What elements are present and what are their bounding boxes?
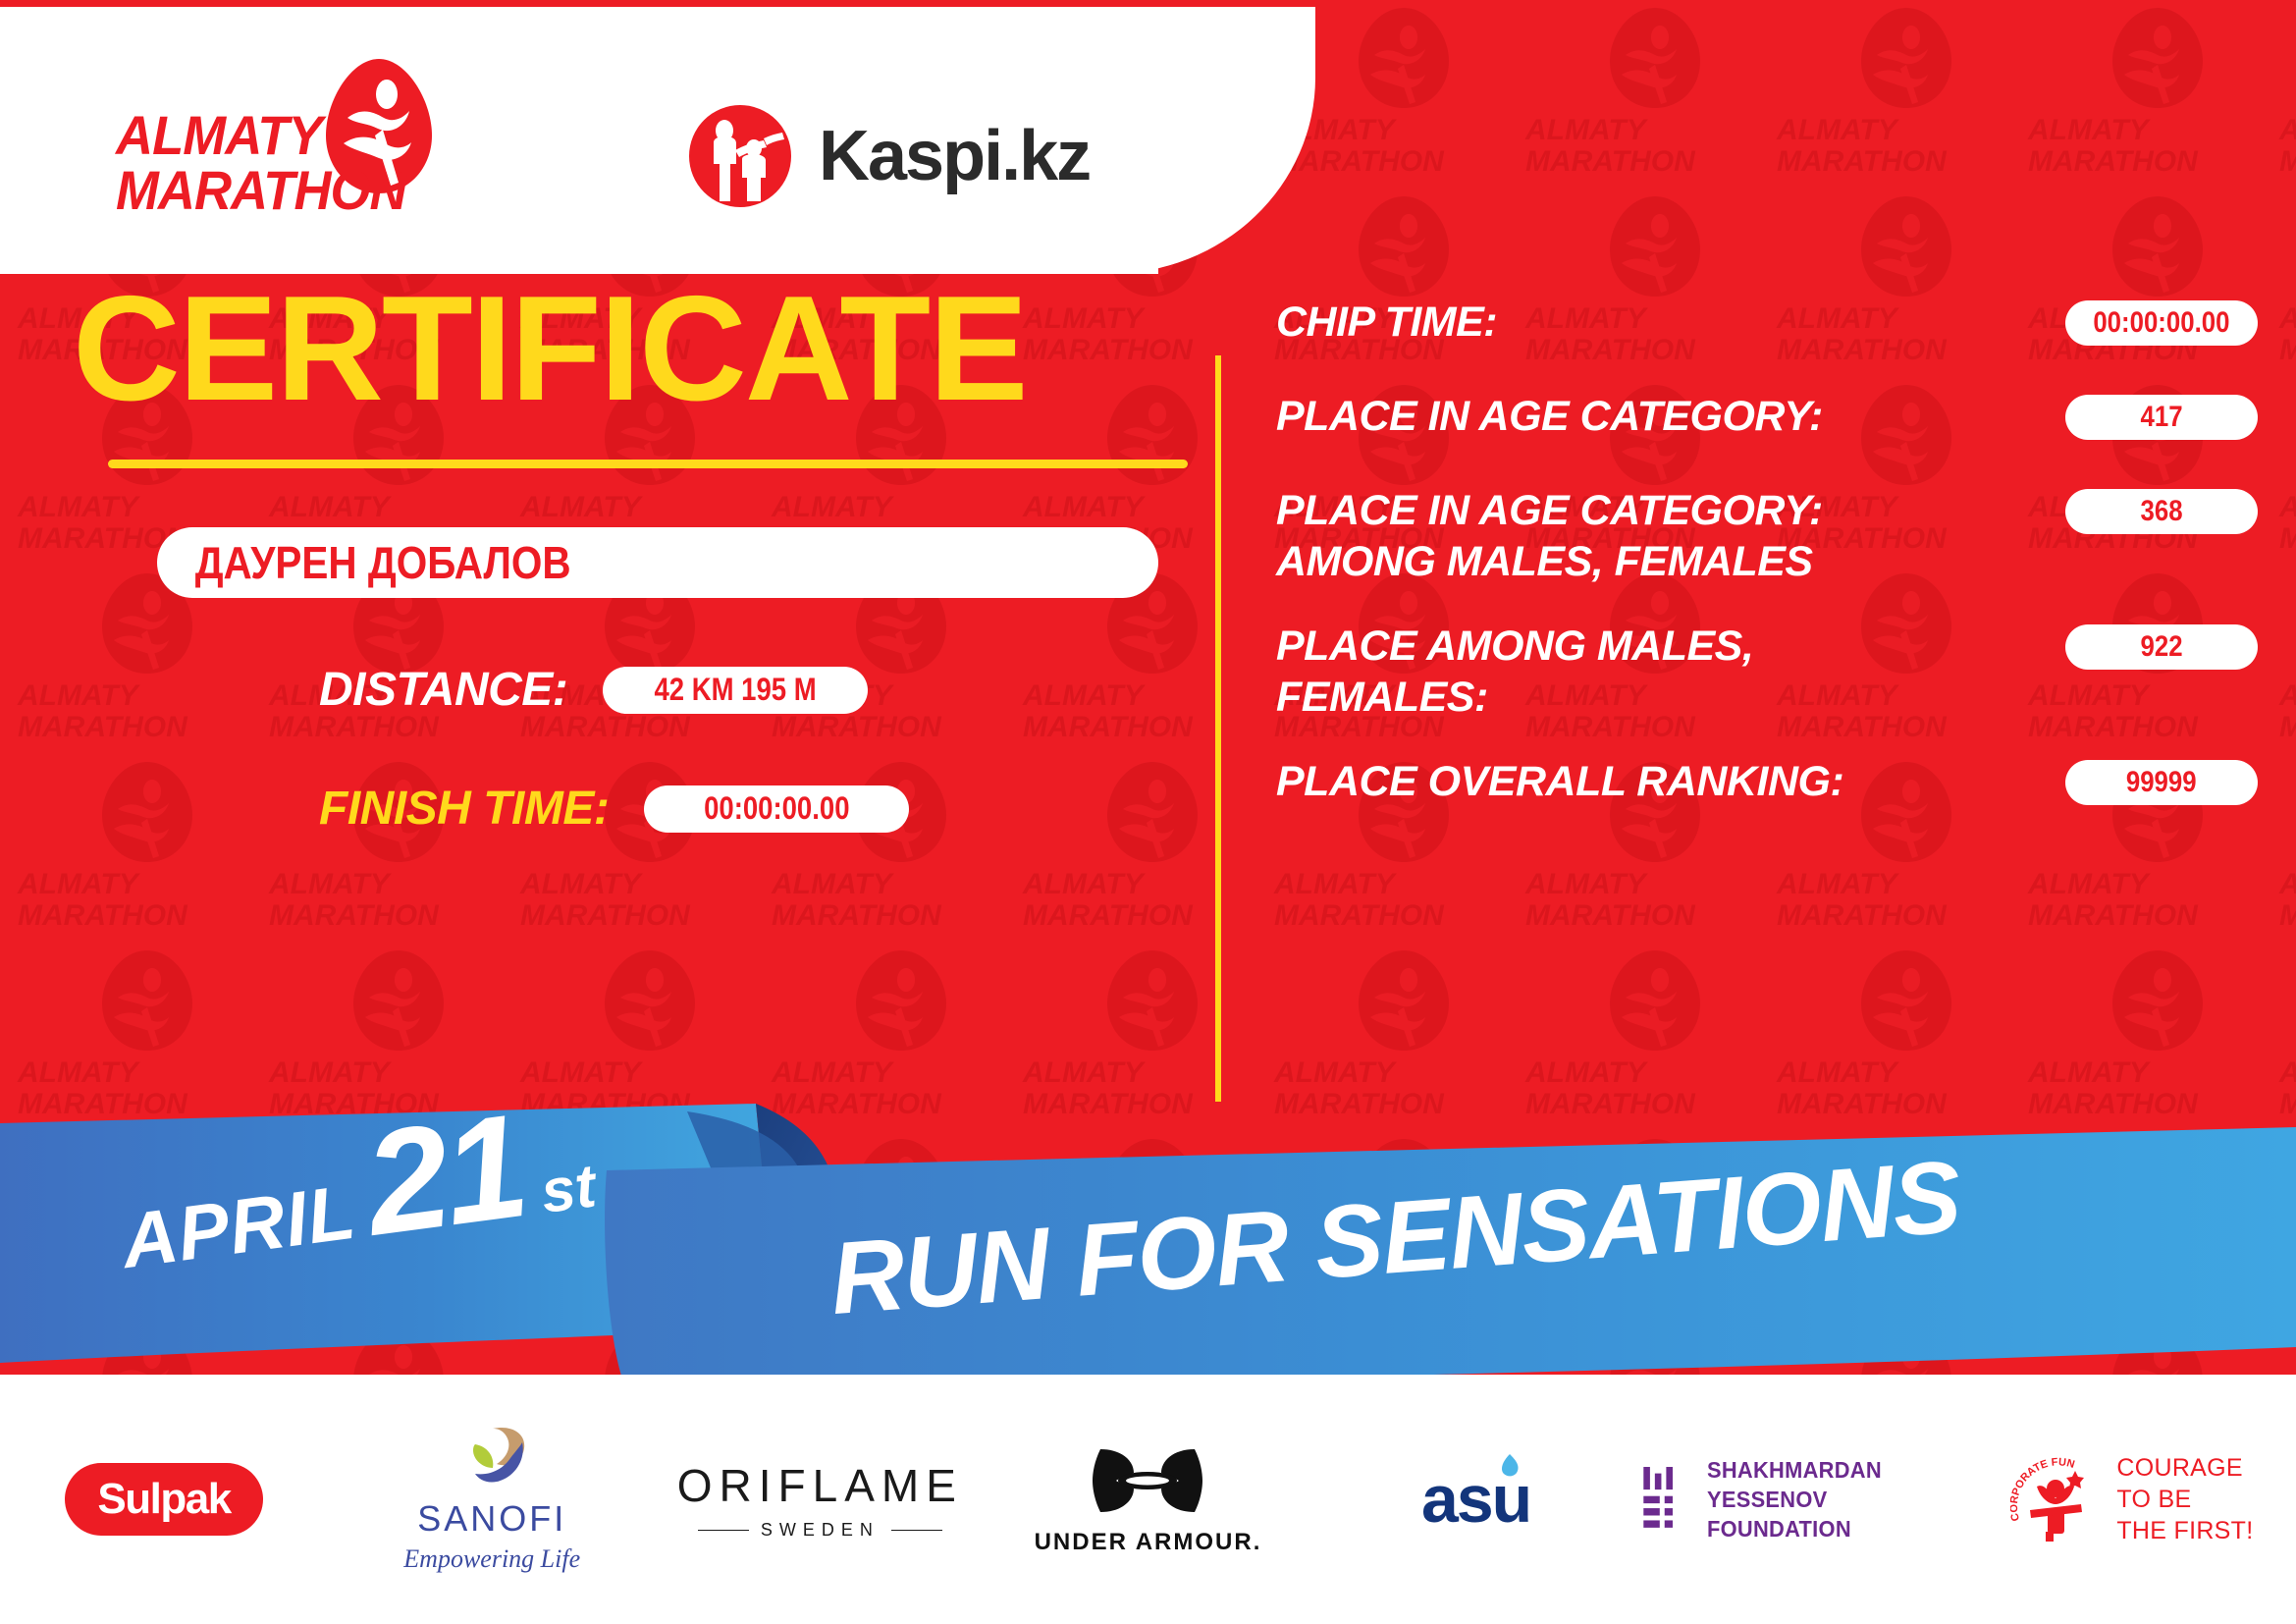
courage-line-3: THE FIRST! (2116, 1517, 2253, 1544)
kaspi-wordmark: Kaspi.kz (819, 116, 1090, 196)
left-column: CERTIFICATE ДАУРЕН ДОБАЛОВ DISTANCE: 42 … (59, 275, 1217, 836)
oriflame-country: SWEDEN (761, 1520, 880, 1541)
chip-time-label: CHIP TIME: (1276, 297, 2065, 348)
finish-time-value-pill: 00:00:00.00 (644, 785, 909, 833)
place-among-gender-value-pill: 922 (2065, 624, 2258, 670)
overall-ranking-value-pill: 99999 (2065, 760, 2258, 805)
participant-name-field: ДАУРЕН ДОБАЛОВ (157, 527, 1158, 598)
sulpak-logo: Sulpak (65, 1463, 263, 1536)
sponsor-yessenov-foundation: SHAKHMARDAN YESSENOV FOUNDATION (1640, 1416, 1968, 1583)
sanofi-tagline: Empowering Life (403, 1544, 580, 1574)
place-age-category-value: 417 (2140, 401, 2182, 434)
sponsor-oriflame: ORIFLAME SWEDEN (656, 1416, 984, 1583)
header-bar: ALMATY MARATHON Kaspi.kz (0, 0, 1315, 275)
sponsor-sulpak: Sulpak (0, 1416, 328, 1583)
yessenov-foundation-icon (1640, 1458, 1685, 1541)
distance-label: DISTANCE: (319, 663, 567, 717)
label-line-1: PLACE AMONG MALES, (1276, 623, 1753, 670)
almaty-marathon-wordmark: ALMATY MARATHON (116, 108, 406, 218)
under-armour-icon (1083, 1443, 1212, 1518)
sponsor-courage-to-be-the-first: CORPORATE FUND COURAGE TO BE THE FIRST! (1968, 1416, 2296, 1583)
overall-ranking-label: PLACE OVERALL RANKING: (1276, 756, 2065, 807)
sanofi-wordmark: SANOFI (403, 1498, 580, 1540)
page-title: CERTIFICATE (73, 275, 1217, 422)
stat-row-place-age-category-gender: PLACE IN AGE CATEGORY: AMONG MALES, FEMA… (1276, 485, 2258, 587)
place-age-category-gender-label: PLACE IN AGE CATEGORY: AMONG MALES, FEMA… (1276, 485, 2065, 587)
oriflame-sub: SWEDEN (677, 1520, 963, 1541)
finish-time-row: FINISH TIME: 00:00:00.00 (319, 782, 1217, 836)
certificate-page: ALMATY MARATHON ALMATY MARA (0, 0, 2296, 1624)
sponsor-strip: Sulpak SANOFI Empowering Life ORIFLAME S… (0, 1375, 2296, 1624)
asu-wordmark: asu (1421, 1461, 1530, 1538)
logo-line-marathon: MARATHON (116, 163, 406, 218)
chip-time-value: 00:00:00.00 (2093, 306, 2229, 340)
yessenov-line-1: SHAKHMARDAN YESSENOV (1707, 1457, 1882, 1512)
title-underline (108, 460, 1188, 468)
oriflame-wordmark: ORIFLAME (677, 1459, 963, 1512)
kaspi-logo: Kaspi.kz (687, 103, 1090, 209)
distance-value-pill: 42 KM 195 M (603, 667, 868, 714)
stats-column: CHIP TIME: 00:00:00.00 PLACE IN AGE CATE… (1276, 297, 2258, 850)
distance-row: DISTANCE: 42 KM 195 M (319, 663, 1217, 717)
stat-row-place-age-category: PLACE IN AGE CATEGORY: 417 (1276, 391, 2258, 452)
place-age-category-gender-value: 368 (2140, 495, 2182, 528)
kaspi-family-icon (687, 103, 793, 209)
yessenov-line-2: FOUNDATION (1707, 1516, 1851, 1542)
sponsor-asu: asu (1312, 1416, 1640, 1583)
yessenov-wordmark: SHAKHMARDAN YESSENOV FOUNDATION (1707, 1455, 1955, 1543)
courage-fund-icon: CORPORATE FUND (2010, 1453, 2103, 1545)
courage-line-2: TO BE (2116, 1486, 2191, 1513)
label-line-2: FEMALES: (1276, 674, 1488, 721)
almaty-marathon-logo: ALMATY MARATHON (116, 57, 450, 214)
ribbon-day: 21 (359, 1106, 529, 1243)
participant-name-value: ДАУРЕН ДОБАЛОВ (157, 536, 571, 589)
place-among-gender-value: 922 (2140, 630, 2182, 664)
overall-ranking-value: 99999 (2126, 766, 2197, 799)
place-among-gender-label: PLACE AMONG MALES, FEMALES: (1276, 621, 2065, 723)
stat-row-place-among-gender: PLACE AMONG MALES, FEMALES: 922 (1276, 621, 2258, 723)
chip-time-value-pill: 00:00:00.00 (2065, 300, 2258, 346)
logo-line-almaty: ALMATY (116, 104, 322, 166)
sponsor-under-armour: UNDER ARMOUR. (984, 1416, 1311, 1583)
finish-time-value: 00:00:00.00 (704, 790, 849, 827)
stat-row-chip-time: CHIP TIME: 00:00:00.00 (1276, 297, 2258, 357)
place-age-category-gender-value-pill: 368 (2065, 489, 2258, 534)
oriflame-rule-right (891, 1530, 942, 1531)
sponsor-sanofi: SANOFI Empowering Life (328, 1416, 656, 1583)
label-line-2: AMONG MALES, FEMALES (1276, 538, 1813, 585)
finish-time-label: FINISH TIME: (319, 782, 609, 836)
place-age-category-value-pill: 417 (2065, 395, 2258, 440)
under-armour-wordmark: UNDER ARMOUR. (1035, 1529, 1262, 1556)
sanofi-logo (454, 1425, 530, 1489)
place-age-category-label: PLACE IN AGE CATEGORY: (1276, 391, 2065, 442)
stat-row-overall-ranking: PLACE OVERALL RANKING: 99999 (1276, 756, 2258, 817)
blue-ribbon: APRIL 21 st RUN FOR SENSATIONS (0, 1100, 2296, 1394)
ribbon-day-suffix: st (537, 1151, 600, 1227)
label-line-1: PLACE IN AGE CATEGORY: (1276, 487, 1823, 534)
courage-line-1: COURAGE (2116, 1454, 2243, 1482)
column-divider (1215, 355, 1221, 1102)
distance-value: 42 KM 195 M (655, 672, 817, 708)
sulpak-wordmark: Sulpak (97, 1475, 230, 1524)
courage-wordmark: COURAGE TO BE THE FIRST! (2116, 1452, 2253, 1546)
oriflame-rule-left (698, 1530, 749, 1531)
